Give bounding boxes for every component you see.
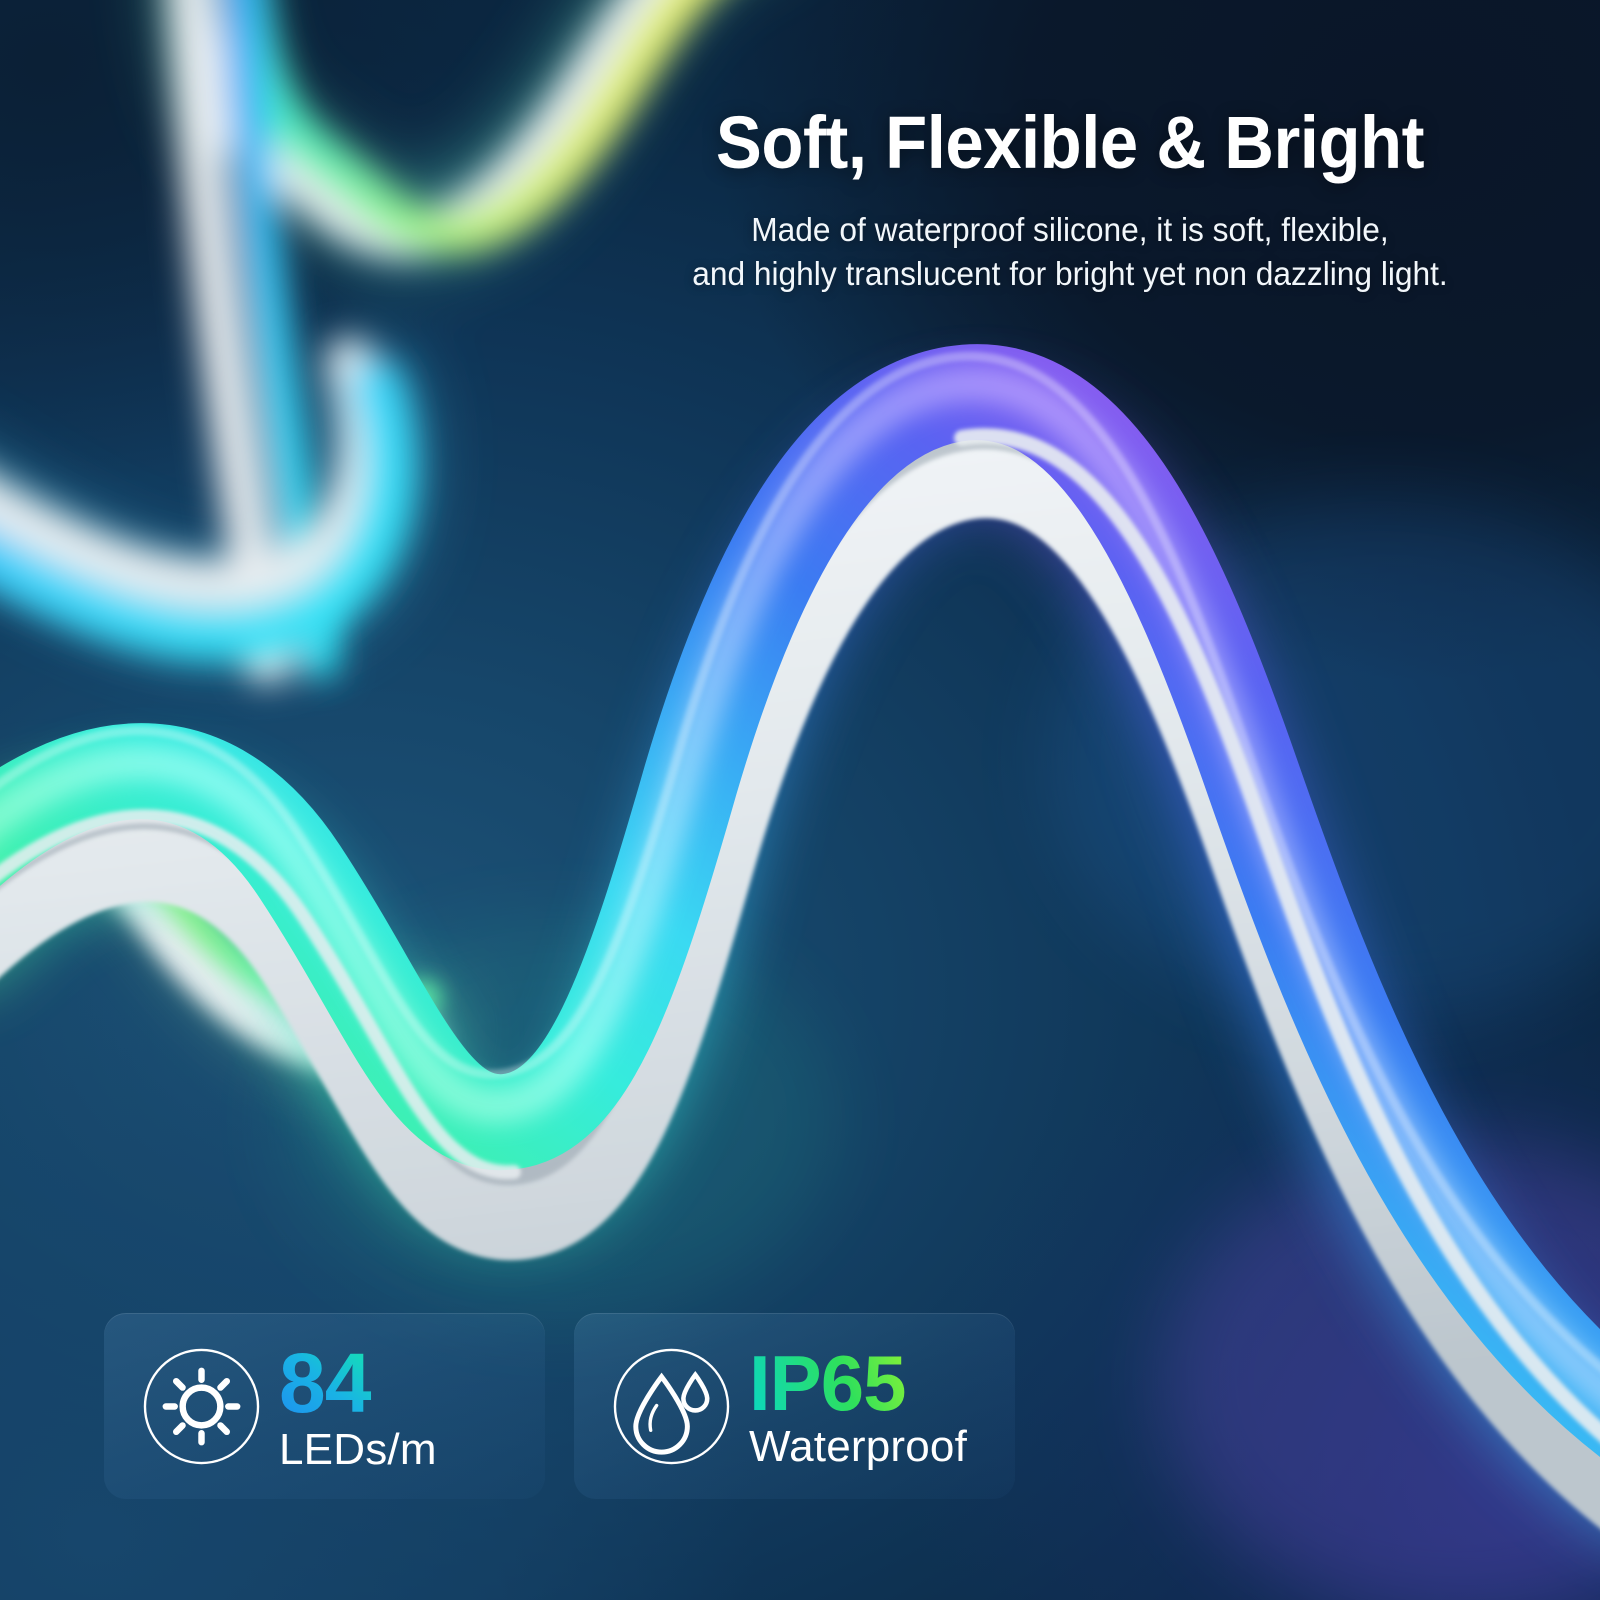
product-feature-image: Soft, Flexible & Bright Made of waterpro…: [0, 0, 1600, 1600]
subtitle-line-2: and highly translucent for bright yet no…: [692, 255, 1448, 292]
subtitle-line-1: Made of waterproof silicone, it is soft,…: [751, 211, 1388, 248]
badge-waterproof[interactable]: IP65 Waterproof: [574, 1313, 1015, 1499]
badge-leds-text: 84 LEDs/m: [279, 1341, 437, 1472]
badge-leds-value: 84: [279, 1341, 437, 1425]
badge-waterproof-value: IP65: [749, 1344, 967, 1422]
badge-leds-per-meter[interactable]: 84 LEDs/m: [104, 1313, 545, 1499]
headline-block: Soft, Flexible & Bright Made of waterpro…: [620, 106, 1520, 296]
page-title: Soft, Flexible & Bright: [652, 106, 1489, 180]
page-subtitle: Made of waterproof silicone, it is soft,…: [638, 208, 1502, 296]
badge-leds-label: LEDs/m: [279, 1428, 437, 1472]
water-drop-icon: [612, 1347, 731, 1466]
feature-badges: 84 LEDs/m IP65 Waterproof: [104, 1313, 1015, 1499]
badge-waterproof-label: Waterproof: [749, 1425, 967, 1469]
badge-waterproof-text: IP65 Waterproof: [749, 1344, 967, 1469]
brightness-sun-icon: [142, 1347, 261, 1466]
